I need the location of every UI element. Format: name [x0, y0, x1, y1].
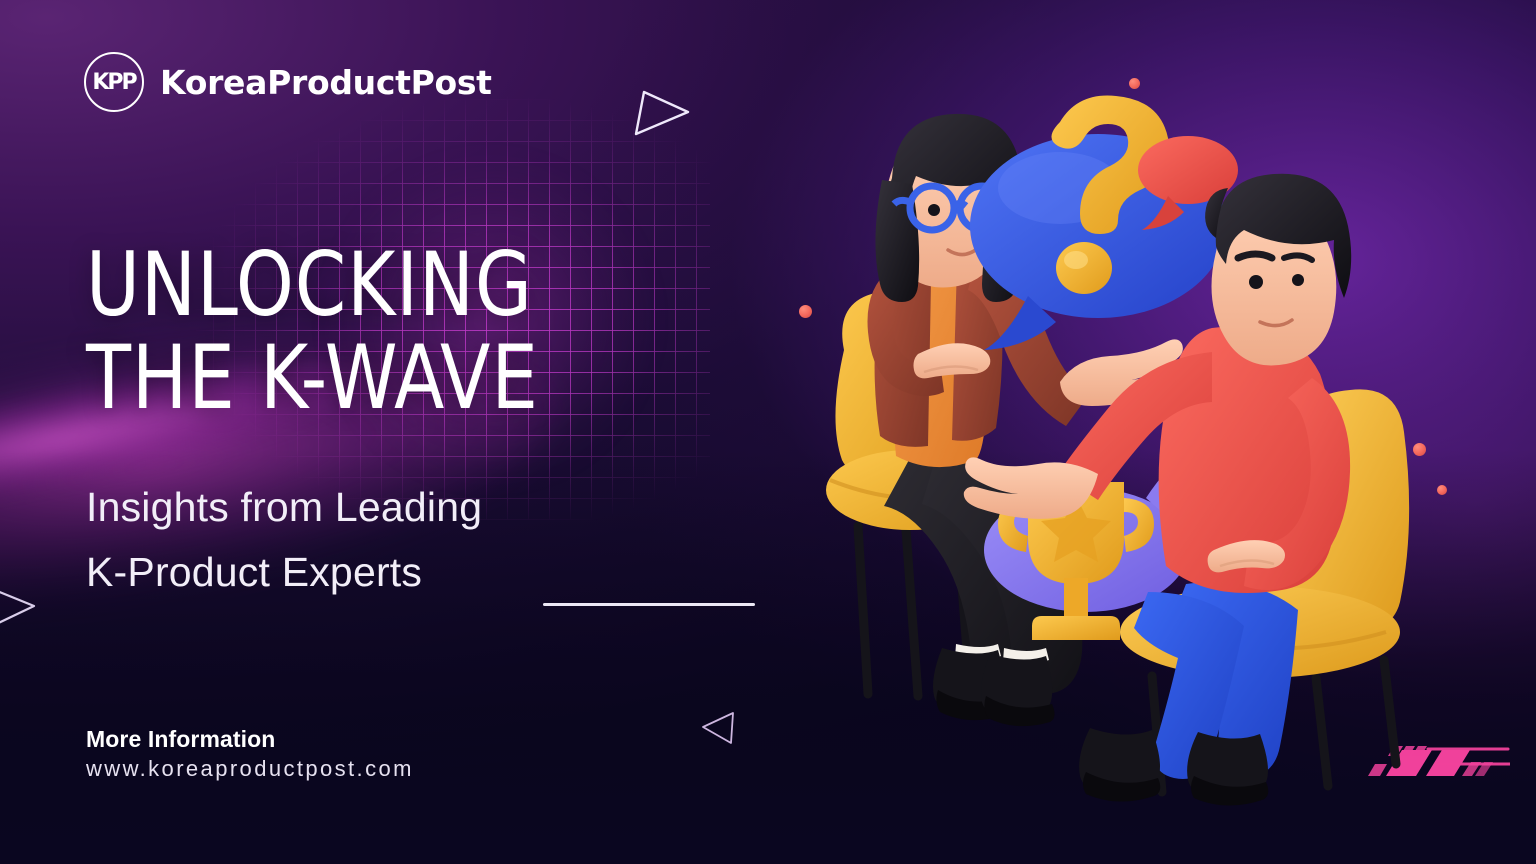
page-title: UNLOCKING THE K-WAVE	[86, 238, 539, 425]
triangle-outline-icon	[697, 707, 739, 749]
brand-logo[interactable]: KPP KoreaProductPost	[84, 52, 492, 112]
hero-illustration	[760, 60, 1536, 864]
kpp-monogram-text: KPP	[92, 72, 135, 94]
page-subtitle: Insights from Leading K-Product Experts	[86, 475, 482, 605]
footer-block: More Information www.koreaproductpost.co…	[86, 726, 414, 782]
poster-canvas: KPP KoreaProductPost UNLOCKING THE K-WAV…	[0, 0, 1536, 864]
divider	[543, 603, 755, 606]
brand-name: KoreaProductPost	[160, 63, 492, 102]
triangle-outline-icon	[628, 82, 696, 144]
footer-label: More Information	[86, 726, 414, 753]
triangle-outline-icon	[0, 576, 42, 634]
footer-url[interactable]: www.koreaproductpost.com	[86, 756, 414, 782]
kpp-monogram-icon: KPP	[84, 52, 144, 112]
